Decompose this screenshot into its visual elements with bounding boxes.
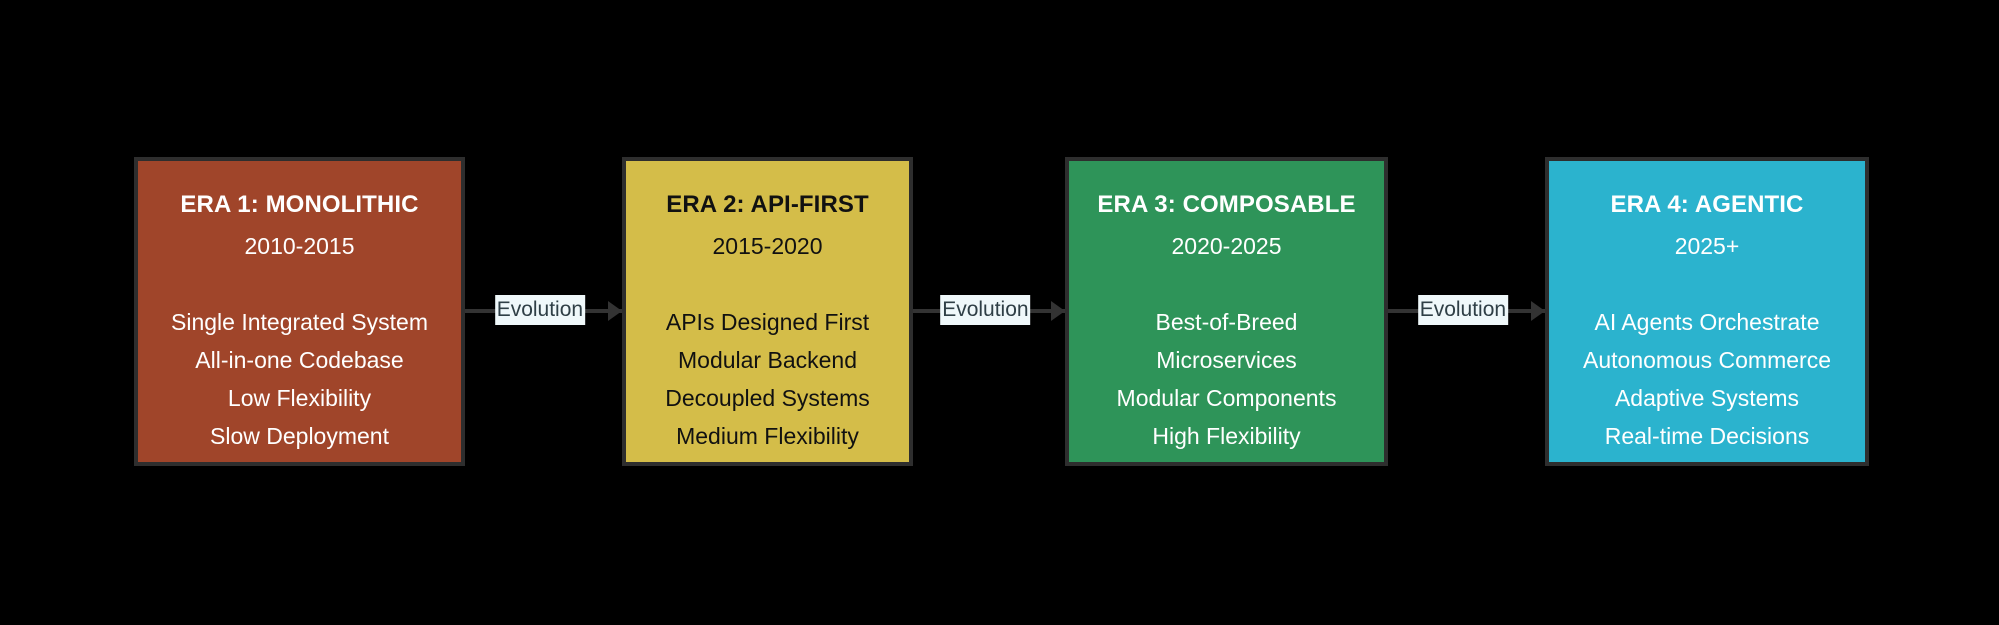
connector-label: Evolution bbox=[940, 295, 1030, 325]
connector-era2-to-era3: Evolution bbox=[913, 291, 1065, 331]
era-node-4-feature: Distributed Intelligence bbox=[1591, 463, 1824, 466]
era-node-4-period: 2025+ bbox=[1675, 235, 1740, 258]
era-node-1-feature: Single Integrated System bbox=[171, 311, 428, 334]
era-node-2-feature: Decoupled Systems bbox=[665, 387, 870, 410]
era-node-1-feature: All-in-one Codebase bbox=[195, 349, 403, 372]
connector-era1-to-era2: Evolution bbox=[465, 291, 622, 331]
era-node-1-title: ERA 1: MONOLITHIC bbox=[180, 193, 418, 217]
era-node-2-feature: Moderate Speed bbox=[682, 463, 852, 466]
era-node-1-feature-list: Single Integrated System All-in-one Code… bbox=[138, 311, 461, 466]
arrow-right-icon bbox=[1531, 301, 1545, 321]
era-node-4-feature-list: AI Agents Orchestrate Autonomous Commerc… bbox=[1549, 311, 1865, 466]
era-node-2-period: 2015-2020 bbox=[713, 235, 823, 258]
connector-label: Evolution bbox=[495, 295, 585, 325]
era-node-3-title: ERA 3: COMPOSABLE bbox=[1097, 193, 1355, 217]
era-node-3-feature: High Flexibility bbox=[1152, 425, 1300, 448]
arrow-right-icon bbox=[1051, 301, 1065, 321]
era-node-1-feature: Low Flexibility bbox=[228, 387, 371, 410]
arrow-right-icon bbox=[608, 301, 622, 321]
era-node-3-period: 2020-2025 bbox=[1172, 235, 1282, 258]
era-node-3-feature: Best-of-Breed bbox=[1156, 311, 1298, 334]
era-node-2-feature: Modular Backend bbox=[678, 349, 857, 372]
connector-era3-to-era4: Evolution bbox=[1388, 291, 1545, 331]
era-node-1-period: 2010-2015 bbox=[245, 235, 355, 258]
era-node-3-feature: Fast Deployment bbox=[1140, 463, 1314, 466]
era-node-4-feature: Autonomous Commerce bbox=[1583, 349, 1831, 372]
era-node-2-title: ERA 2: API-FIRST bbox=[666, 193, 869, 217]
era-node-4-feature: AI Agents Orchestrate bbox=[1594, 311, 1819, 334]
era-node-2-feature: Medium Flexibility bbox=[676, 425, 859, 448]
era-node-3[interactable]: ERA 3: COMPOSABLE 2020-2025 Best-of-Bree… bbox=[1065, 157, 1388, 466]
era-node-4-feature: Real-time Decisions bbox=[1605, 425, 1810, 448]
era-node-4[interactable]: ERA 4: AGENTIC 2025+ AI Agents Orchestra… bbox=[1545, 157, 1869, 466]
era-node-3-feature: Modular Components bbox=[1117, 387, 1337, 410]
era-node-1-feature: Slow Deployment bbox=[210, 425, 389, 448]
era-node-3-feature: Microservices bbox=[1156, 349, 1297, 372]
era-node-2-feature-list: APIs Designed First Modular Backend Deco… bbox=[626, 311, 909, 466]
era-node-3-feature-list: Best-of-Breed Microservices Modular Comp… bbox=[1069, 311, 1384, 466]
era-node-1-feature: High Coupling bbox=[227, 463, 371, 466]
era-node-2-feature: APIs Designed First bbox=[666, 311, 869, 334]
connector-label: Evolution bbox=[1418, 295, 1508, 325]
diagram-canvas: ERA 1: MONOLITHIC 2010-2015 Single Integ… bbox=[0, 0, 1999, 625]
era-node-4-feature: Adaptive Systems bbox=[1615, 387, 1799, 410]
era-node-4-title: ERA 4: AGENTIC bbox=[1611, 193, 1804, 217]
era-node-1[interactable]: ERA 1: MONOLITHIC 2010-2015 Single Integ… bbox=[134, 157, 465, 466]
era-node-2[interactable]: ERA 2: API-FIRST 2015-2020 APIs Designed… bbox=[622, 157, 913, 466]
